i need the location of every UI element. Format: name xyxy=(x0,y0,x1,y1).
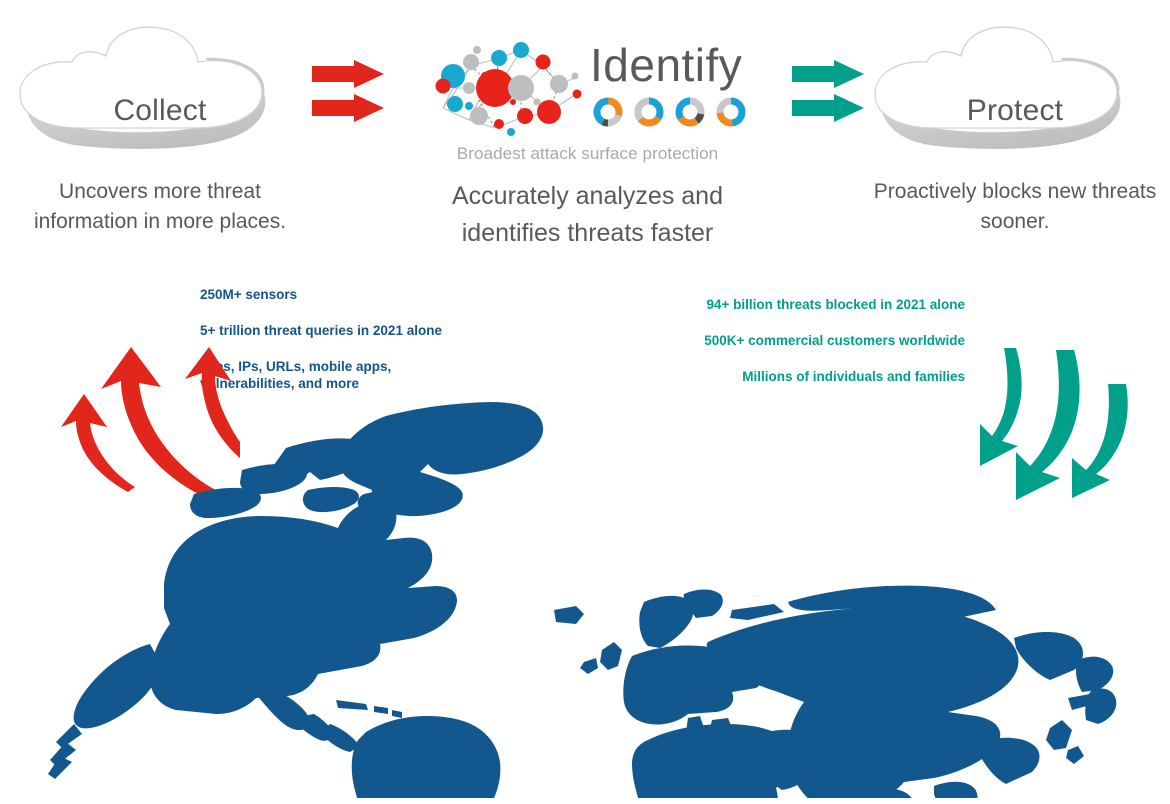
double-arrow-right-green-icon xyxy=(790,58,868,124)
connector-collect-to-identify xyxy=(310,58,388,129)
double-arrow-right-red-icon xyxy=(310,58,388,124)
network-graph-icon xyxy=(425,36,585,146)
infographic-canvas: Collect Uncovers more threat information… xyxy=(0,0,1170,804)
identify-title: Identify xyxy=(590,40,742,90)
cloud-icon xyxy=(10,22,310,152)
stage-protect: Protect Proactively blocks new threats s… xyxy=(865,22,1165,152)
stage-collect: Collect Uncovers more threat information… xyxy=(10,22,310,152)
donut-chart-row xyxy=(592,96,747,128)
stats-protect-list: 94+ billion threats blocked in 2021 alon… xyxy=(620,296,965,404)
donut-chart-2-icon xyxy=(633,96,665,128)
caption-identify: Accurately analyzes and identifies threa… xyxy=(410,178,765,252)
stat-item: 500K+ commercial customers worldwide xyxy=(620,332,965,349)
stat-item: Millions of individuals and families xyxy=(620,368,965,385)
connector-identify-to-protect xyxy=(790,58,868,129)
cloud-icon xyxy=(865,22,1165,152)
donut-chart-3-icon xyxy=(674,96,706,128)
stat-item: 5+ trillion threat queries in 2021 alone xyxy=(200,322,442,339)
donut-chart-4-icon xyxy=(715,96,747,128)
stat-item: 250M+ sensors xyxy=(200,286,442,303)
identify-tagline: Broadest attack surface protection xyxy=(415,144,760,164)
stat-item: 94+ billion threats blocked in 2021 alon… xyxy=(620,296,965,313)
world-map xyxy=(48,398,1123,798)
donut-chart-1-icon xyxy=(592,96,624,128)
caption-protect: Proactively blocks new threats sooner. xyxy=(865,177,1165,237)
caption-collect: Uncovers more threat information in more… xyxy=(10,177,310,237)
world-map-svg xyxy=(48,398,1123,798)
map-landmass xyxy=(48,402,1116,798)
